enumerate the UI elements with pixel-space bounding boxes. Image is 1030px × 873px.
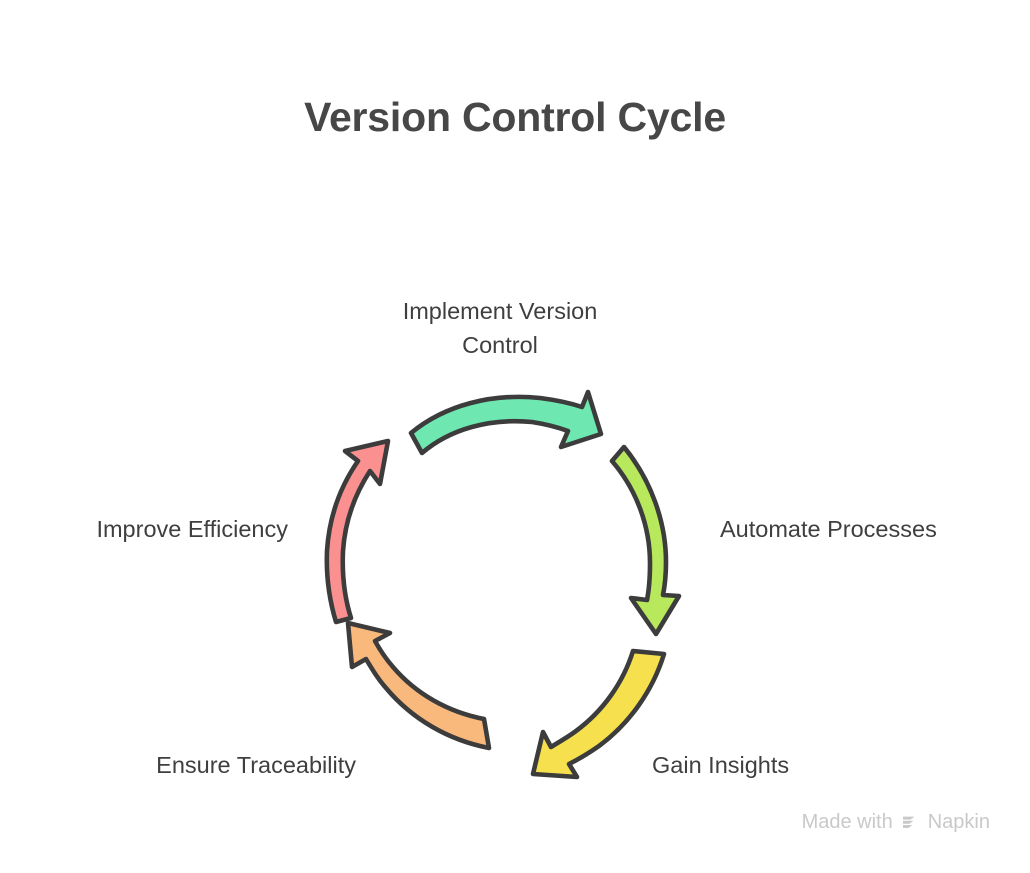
arrow-left-salmon (327, 441, 388, 622)
node-label-gain-insights: Gain Insights (652, 748, 952, 782)
arrow-right-lime (612, 447, 679, 634)
node-label-implement-version-control: Implement Version Control (350, 294, 650, 362)
napkin-watermark: Made with Napkin (740, 806, 990, 838)
arrow-bottom-right-yellow (533, 651, 664, 777)
node-label-improve-efficiency: Improve Efficiency (0, 512, 288, 546)
page-title: Version Control Cycle (0, 94, 1030, 141)
arrow-bottom-left-orange (348, 623, 489, 748)
watermark-brand-text: Napkin (928, 811, 990, 834)
node-label-ensure-traceability: Ensure Traceability (0, 748, 356, 782)
watermark-prefix-text: Made with (802, 811, 893, 834)
node-label-automate-processes: Automate Processes (720, 512, 1020, 546)
arrow-top-green (411, 392, 601, 453)
napkin-logo-icon (900, 812, 921, 833)
